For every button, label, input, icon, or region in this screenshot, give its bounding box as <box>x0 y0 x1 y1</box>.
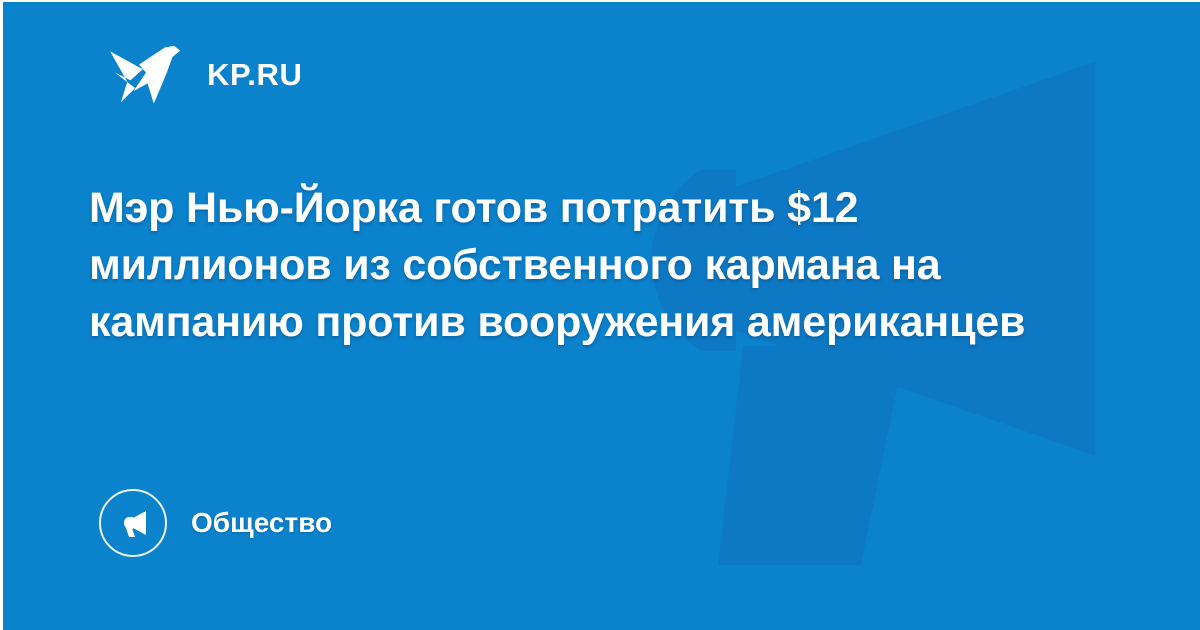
page-title: Мэр Нью-Йорка готов потратить $12 миллио… <box>89 180 1049 351</box>
category-label: Общество <box>191 509 332 537</box>
brand-name-label: KP.RU <box>207 59 302 90</box>
swallow-bird-icon <box>107 35 185 113</box>
brand-logo[interactable]: KP.RU <box>107 35 302 113</box>
category-badge[interactable]: Общество <box>99 489 332 557</box>
social-share-card: KP.RU Мэр Нью-Йорка готов потратить $12 … <box>0 0 1200 630</box>
megaphone-icon <box>99 489 167 557</box>
